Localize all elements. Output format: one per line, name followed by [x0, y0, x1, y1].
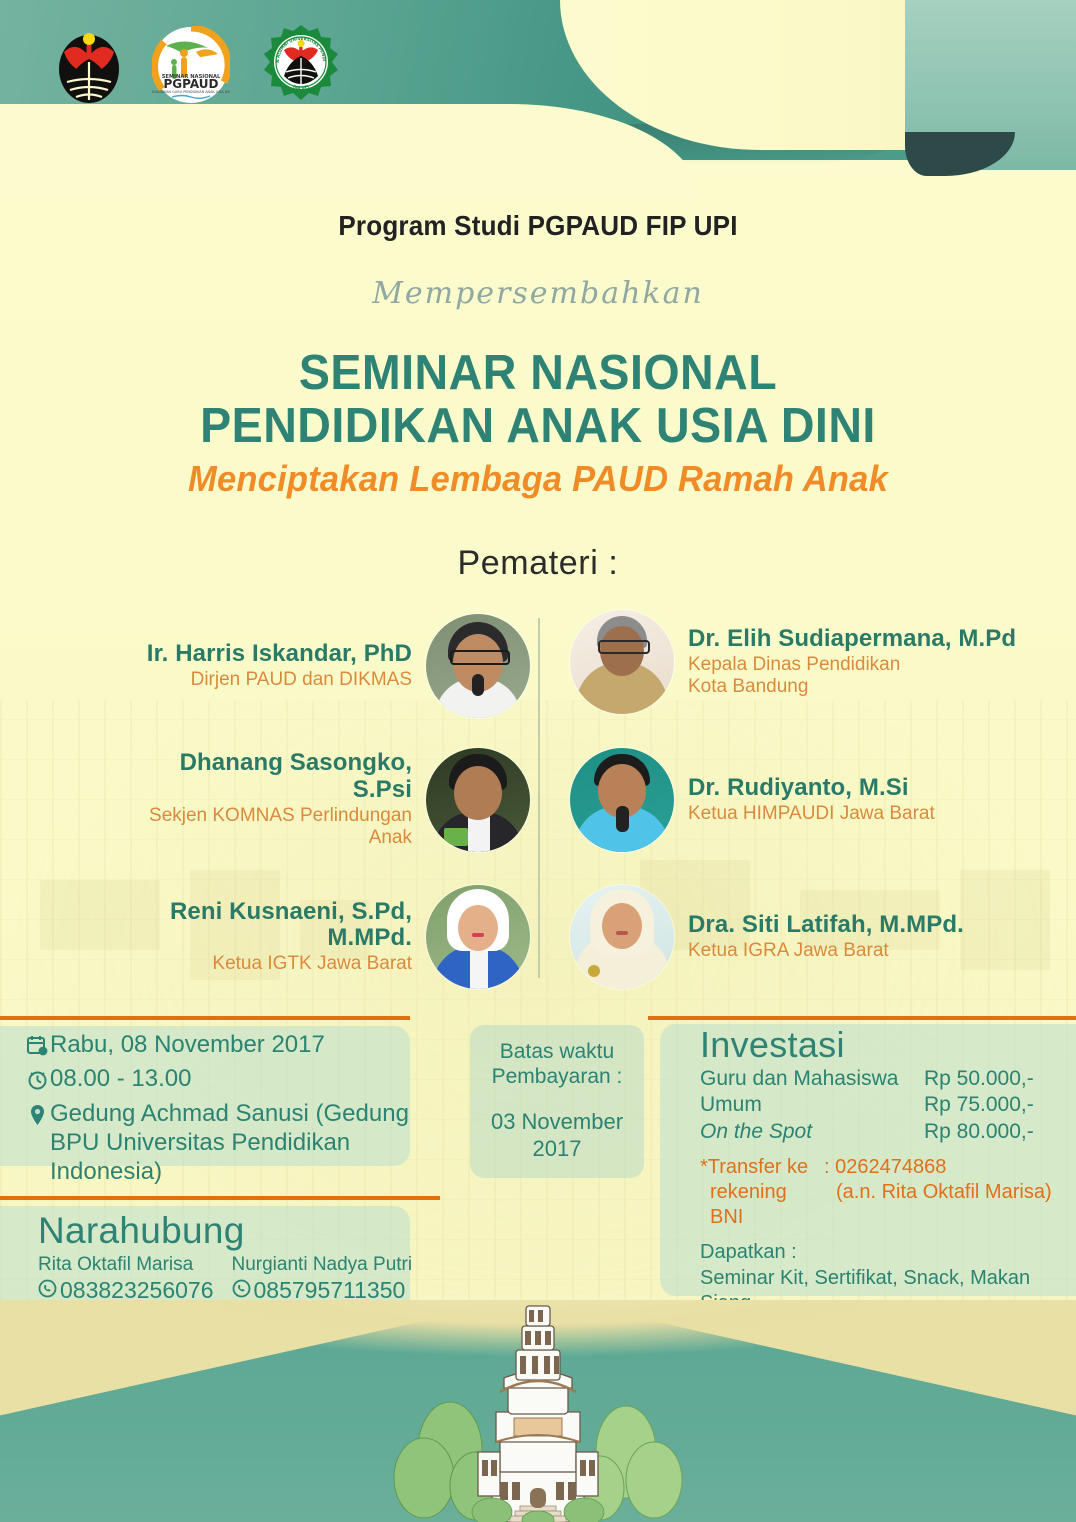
- logo-row: SEMINAR NASIONAL PGPAUD PENDIDIKAN GURU …: [58, 24, 340, 106]
- program-line: Program Studi PGPAUD FIP UPI: [38, 210, 1039, 242]
- event-details: Rabu, 08 November 2017 08.00 - 13.00 Ged…: [24, 1030, 420, 1191]
- speaker-name: Dhanang Sasongko, S.Psi: [114, 750, 412, 804]
- speaker-name: Ir. Harris Iskandar, PhD: [147, 641, 412, 668]
- price-row: Guru dan Mahasiswa Rp 50.000,-: [700, 1066, 1060, 1092]
- speaker-role: Kepala Dinas Pendidikan Kota Bandung: [688, 654, 1016, 698]
- venue-line-2: BPU Universitas Pendidikan Indonesia): [50, 1129, 350, 1185]
- title-block: Program Studi PGPAUD FIP UPI Mempersemba…: [0, 210, 1076, 583]
- speaker-text: Dr. Rudiyanto, M.Si Ketua HIMPAUDI Jawa …: [674, 775, 949, 825]
- transfer-label-2: rekening BNI: [700, 1180, 824, 1230]
- seminar-nasional-pgpaud-logo: SEMINAR NASIONAL PGPAUD PENDIDIKAN GURU …: [152, 26, 230, 104]
- benefits-label: Dapatkan :: [700, 1240, 1060, 1265]
- speaker-text: Dr. Elih Sudiapermana, M.Pd Kepala Dinas…: [674, 626, 1030, 698]
- subtitle: Menciptakan Lembaga PAUD Ramah Anak: [22, 458, 1055, 500]
- transfer-info: *Transfer ke: 0262474868 rekening BNI(a.…: [700, 1155, 1060, 1230]
- speaker-role: Ketua IGRA Jawa Barat: [688, 940, 964, 962]
- speaker-avatar: [426, 614, 530, 718]
- contact-name: Nurgianti Nadya Putri: [232, 1254, 413, 1277]
- speaker-text: Dhanang Sasongko, S.Psi Sekjen KOMNAS Pe…: [100, 750, 426, 849]
- location-pin-icon: [24, 1099, 50, 1126]
- speaker-card: Dr. Elih Sudiapermana, M.Pd Kepala Dinas…: [570, 610, 1040, 714]
- contact-name: Rita Oktafil Marisa: [38, 1254, 214, 1277]
- account-number: : 0262474868: [824, 1155, 946, 1180]
- divider-mid-left: [0, 1196, 440, 1200]
- speaker-avatar: [426, 748, 530, 852]
- payment-deadline-box: Batas waktu Pembayaran : 03 November 201…: [470, 1025, 644, 1178]
- price-value: Rp 75.000,-: [924, 1092, 1060, 1118]
- transfer-label-1: *Transfer ke: [700, 1155, 824, 1180]
- speaker-text: Reni Kusnaeni, S.Pd, M.MPd. Ketua IGTK J…: [78, 899, 426, 976]
- speakers-section: Ir. Harris Iskandar, PhD Dirjen PAUD dan…: [0, 600, 1076, 1000]
- speakers-divider: [538, 618, 540, 978]
- event-date: Rabu, 08 November 2017: [50, 1030, 325, 1059]
- price-row: Umum Rp 75.000,-: [700, 1092, 1060, 1118]
- event-time: 08.00 - 13.00: [50, 1064, 191, 1093]
- contact-item: Rita Oktafil Marisa 083823256076: [38, 1254, 214, 1304]
- date-row: Rabu, 08 November 2017: [24, 1030, 420, 1059]
- speaker-card: Dhanang Sasongko, S.Psi Sekjen KOMNAS Pe…: [100, 748, 530, 852]
- title-line-2: PENDIDIKAN ANAK USIA DINI: [27, 400, 1049, 453]
- venue-line-1: Gedung Achmad Sanusi (Gedung: [50, 1100, 409, 1127]
- price-row: On the Spot Rp 80.000,-: [700, 1119, 1060, 1145]
- poster-canvas: SEMINAR NASIONAL PGPAUD PENDIDIKAN GURU …: [0, 0, 1076, 1522]
- speaker-text: Dra. Siti Latifah, M.MPd. Ketua IGRA Jaw…: [674, 912, 978, 962]
- gedung-isola-illustration: [388, 1300, 688, 1522]
- price-value: Rp 50.000,-: [924, 1066, 1060, 1092]
- event-venue: Gedung Achmad Sanusi (Gedung BPU Univers…: [50, 1099, 420, 1187]
- upi-logo: [58, 26, 120, 104]
- contacts-heading: Narahubung: [38, 1210, 438, 1252]
- deadline-date-2: 2017: [478, 1136, 636, 1162]
- contact-item: Nurgianti Nadya Putri 085795711350: [232, 1254, 413, 1304]
- speaker-card: Dra. Siti Latifah, M.MPd. Ketua IGRA Jaw…: [570, 885, 1040, 989]
- speaker-role: Dirjen PAUD dan DIKMAS: [147, 669, 412, 691]
- speaker-card: Dr. Rudiyanto, M.Si Ketua HIMPAUDI Jawa …: [570, 748, 1040, 852]
- speaker-name: Dr. Rudiyanto, M.Si: [688, 775, 935, 802]
- speaker-card: Reni Kusnaeni, S.Pd, M.MPd. Ketua IGTK J…: [78, 885, 530, 989]
- speaker-role: Ketua IGTK Jawa Barat: [92, 953, 412, 975]
- speaker-role: Sekjen KOMNAS Perlindungan Anak: [114, 805, 412, 849]
- price-label: Guru dan Mahasiswa: [700, 1066, 924, 1092]
- investment-heading: Investasi: [700, 1024, 1060, 1066]
- ribbon-bottom-curve: [0, 104, 700, 200]
- speaker-name: Dr. Elih Sudiapermana, M.Pd: [688, 626, 1016, 653]
- speaker-avatar: [570, 748, 674, 852]
- contacts-columns: Rita Oktafil Marisa 083823256076 Nurgian…: [38, 1254, 438, 1304]
- account-name: (a.n. Rita Oktafil Marisa): [824, 1180, 1052, 1230]
- speaker-role: Ketua HIMPAUDI Jawa Barat: [688, 803, 935, 825]
- speaker-avatar: [426, 885, 530, 989]
- speakers-heading: Pemateri :: [0, 544, 1076, 583]
- deadline-label-1: Batas waktu: [478, 1039, 636, 1064]
- contacts-section: Narahubung Rita Oktafil Marisa 083823256…: [38, 1210, 438, 1304]
- footer-band: [0, 1300, 1076, 1522]
- deadline-date-1: 03 November: [478, 1109, 636, 1135]
- price-value: Rp 80.000,-: [924, 1119, 1060, 1145]
- presents-script: Mempersembahkan: [0, 276, 1076, 311]
- venue-row: Gedung Achmad Sanusi (Gedung BPU Univers…: [24, 1099, 420, 1187]
- divider-top-right: [648, 1016, 1076, 1020]
- ikatan-alumni-upi-logo: IKATAN ALUMNI UNIVERSITAS PENDIDIKAN IKA…: [262, 24, 340, 106]
- price-label: Umum: [700, 1092, 924, 1118]
- time-row: 08.00 - 13.00: [24, 1064, 420, 1093]
- title-line-1: SEMINAR NASIONAL: [27, 347, 1049, 400]
- price-label: On the Spot: [700, 1119, 924, 1145]
- speaker-name: Reni Kusnaeni, S.Pd, M.MPd.: [92, 899, 412, 953]
- svg-text:PENDIDIKAN GURU PENDIDIKAN ANA: PENDIDIKAN GURU PENDIDIKAN ANAK USIA DIN…: [152, 90, 230, 94]
- svg-text:PGPAUD: PGPAUD: [164, 77, 219, 91]
- calendar-icon: [24, 1030, 50, 1056]
- deadline-label-2: Pembayaran :: [478, 1064, 636, 1089]
- speaker-name: Dra. Siti Latifah, M.MPd.: [688, 912, 964, 939]
- speaker-avatar: [570, 885, 674, 989]
- speaker-avatar: [570, 610, 674, 714]
- speaker-card: Ir. Harris Iskandar, PhD Dirjen PAUD dan…: [130, 614, 530, 718]
- speaker-text: Ir. Harris Iskandar, PhD Dirjen PAUD dan…: [133, 641, 426, 691]
- clock-icon: [24, 1064, 50, 1090]
- divider-top-left: [0, 1016, 410, 1020]
